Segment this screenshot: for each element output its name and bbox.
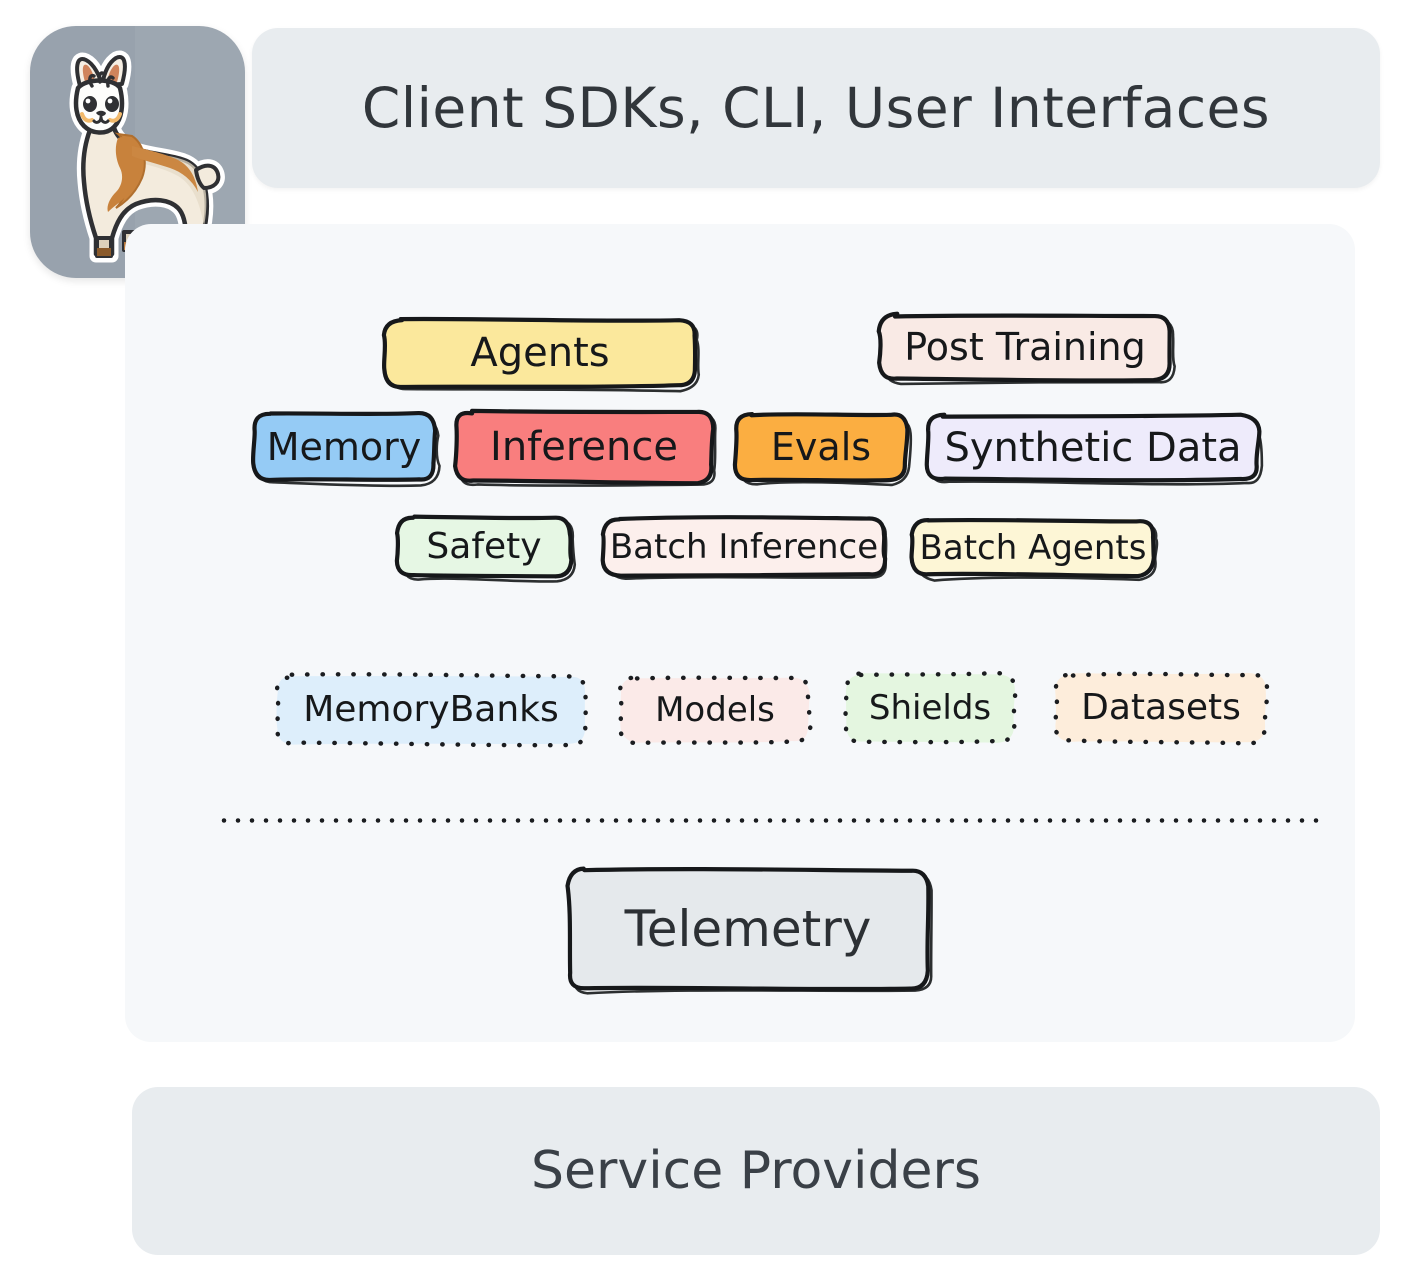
api-box-synthetic-data-label: Synthetic Data — [944, 428, 1241, 468]
api-box-post-training-label: Post Training — [904, 328, 1146, 366]
resource-box-shields[interactable]: Shields — [846, 674, 1014, 742]
api-box-safety-label: Safety — [426, 529, 541, 565]
resource-box-memorybanks[interactable]: MemoryBanks — [277, 676, 585, 744]
api-box-safety[interactable]: Safety — [398, 518, 570, 576]
telemetry-box-label: Telemetry — [625, 904, 872, 954]
resource-box-models-label: Models — [655, 693, 775, 727]
resource-box-datasets[interactable]: Datasets — [1056, 674, 1266, 742]
service-providers-banner: Service Providers — [132, 1087, 1380, 1255]
api-box-memory-label: Memory — [267, 428, 422, 466]
resource-box-datasets-label: Datasets — [1081, 690, 1241, 726]
page-title: Client SDKs, CLI, User Interfaces — [252, 28, 1380, 188]
api-box-agents[interactable]: Agents — [385, 320, 695, 386]
api-box-batch-agents-label: Batch Agents — [920, 531, 1147, 565]
resource-box-memorybanks-label: MemoryBanks — [303, 692, 559, 728]
api-box-batch-inference[interactable]: Batch Inference — [604, 518, 884, 575]
api-box-synthetic-data[interactable]: Synthetic Data — [928, 416, 1258, 480]
api-box-memory[interactable]: Memory — [254, 414, 434, 480]
api-box-evals[interactable]: Evals — [736, 414, 906, 480]
providers-title: Service Providers — [132, 1087, 1380, 1255]
client-interfaces-banner: Client SDKs, CLI, User Interfaces — [252, 28, 1380, 188]
api-box-post-training[interactable]: Post Training — [880, 315, 1170, 379]
resource-box-models[interactable]: Models — [621, 678, 809, 742]
api-box-evals-label: Evals — [771, 428, 871, 466]
resource-box-shields-label: Shields — [869, 691, 991, 725]
api-box-batch-agents[interactable]: Batch Agents — [913, 520, 1153, 575]
api-resource-divider — [217, 818, 1321, 823]
telemetry-box[interactable]: Telemetry — [569, 870, 927, 988]
api-box-agents-label: Agents — [470, 333, 609, 373]
api-box-inference-label: Inference — [490, 427, 678, 467]
api-box-batch-inference-label: Batch Inference — [610, 530, 878, 564]
api-box-inference[interactable]: Inference — [456, 412, 712, 482]
